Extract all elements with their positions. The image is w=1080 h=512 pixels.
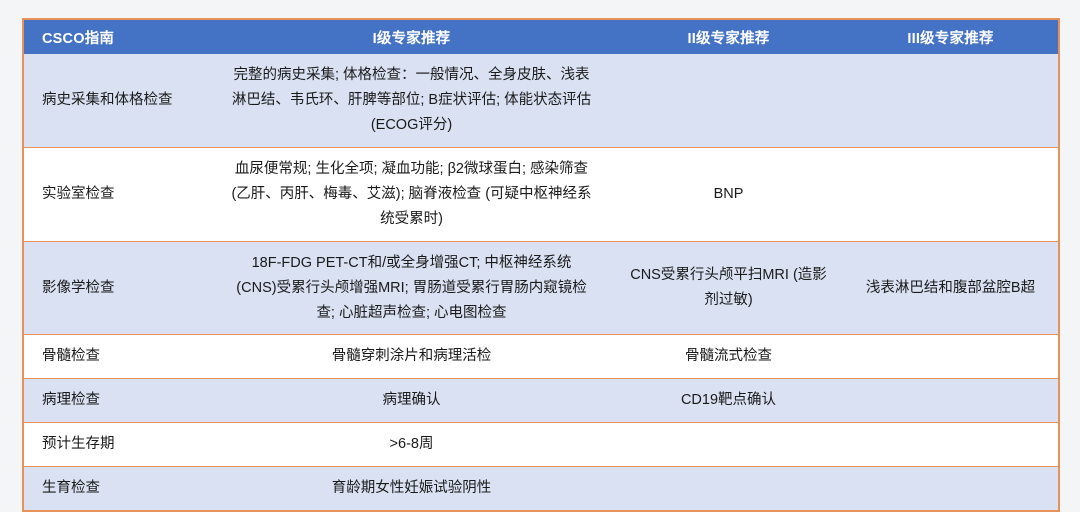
column-header-level-1-recommendation: I级专家推荐 (209, 19, 614, 54)
cell-level-1: 完整的病史采集; 体格检查：一般情况、全身皮肤、浅表淋巴结、韦氏环、肝脾等部位;… (209, 54, 614, 147)
table-body: 病史采集和体格检查 完整的病史采集; 体格检查：一般情况、全身皮肤、浅表淋巴结、… (23, 54, 1059, 511)
cell-level-3 (843, 467, 1059, 511)
table-row: 生育检查 育龄期女性妊娠试验阴性 (23, 467, 1059, 511)
table-row: 实验室检查 血尿便常规; 生化全项; 凝血功能; β2微球蛋白; 感染筛查 (乙… (23, 147, 1059, 241)
guideline-table-container: CSCO指南 I级专家推荐 II级专家推荐 III级专家推荐 病史采集和体格检查… (22, 18, 1058, 512)
column-header-level-3-recommendation: III级专家推荐 (843, 19, 1059, 54)
table-row: 病史采集和体格检查 完整的病史采集; 体格检查：一般情况、全身皮肤、浅表淋巴结、… (23, 54, 1059, 147)
cell-level-3 (843, 423, 1059, 467)
row-category: 实验室检查 (23, 147, 209, 241)
cell-level-1: >6-8周 (209, 423, 614, 467)
cell-level-1: 病理确认 (209, 379, 614, 423)
table-row: 病理检查 病理确认 CD19靶点确认 (23, 379, 1059, 423)
table-header: CSCO指南 I级专家推荐 II级专家推荐 III级专家推荐 (23, 19, 1059, 54)
row-category: 病史采集和体格检查 (23, 54, 209, 147)
cell-level-3: 浅表淋巴结和腹部盆腔B超 (843, 241, 1059, 335)
column-header-csco-guideline: CSCO指南 (23, 19, 209, 54)
cell-level-3 (843, 379, 1059, 423)
csco-guideline-table: CSCO指南 I级专家推荐 II级专家推荐 III级专家推荐 病史采集和体格检查… (22, 18, 1060, 512)
header-row: CSCO指南 I级专家推荐 II级专家推荐 III级专家推荐 (23, 19, 1059, 54)
cell-level-1: 血尿便常规; 生化全项; 凝血功能; β2微球蛋白; 感染筛查 (乙肝、丙肝、梅… (209, 147, 614, 241)
row-category: 病理检查 (23, 379, 209, 423)
cell-level-3 (843, 54, 1059, 147)
row-category: 骨髓检查 (23, 335, 209, 379)
row-category: 影像学检查 (23, 241, 209, 335)
cell-level-3 (843, 335, 1059, 379)
row-category: 预计生存期 (23, 423, 209, 467)
cell-level-2: 骨髓流式检查 (614, 335, 843, 379)
cell-level-2 (614, 423, 843, 467)
table-row: 预计生存期 >6-8周 (23, 423, 1059, 467)
table-row: 影像学检查 18F-FDG PET-CT和/或全身增强CT; 中枢神经系统 (C… (23, 241, 1059, 335)
cell-level-2: CD19靶点确认 (614, 379, 843, 423)
cell-level-2 (614, 467, 843, 511)
cell-level-2: CNS受累行头颅平扫MRI (造影剂过敏) (614, 241, 843, 335)
cell-level-1: 18F-FDG PET-CT和/或全身增强CT; 中枢神经系统 (CNS)受累行… (209, 241, 614, 335)
cell-level-1: 骨髓穿刺涂片和病理活检 (209, 335, 614, 379)
cell-level-1: 育龄期女性妊娠试验阴性 (209, 467, 614, 511)
column-header-level-2-recommendation: II级专家推荐 (614, 19, 843, 54)
page-root: CSCO指南 I级专家推荐 II级专家推荐 III级专家推荐 病史采集和体格检查… (0, 0, 1080, 497)
cell-level-2: BNP (614, 147, 843, 241)
cell-level-2 (614, 54, 843, 147)
table-row: 骨髓检查 骨髓穿刺涂片和病理活检 骨髓流式检查 (23, 335, 1059, 379)
cell-level-3 (843, 147, 1059, 241)
row-category: 生育检查 (23, 467, 209, 511)
